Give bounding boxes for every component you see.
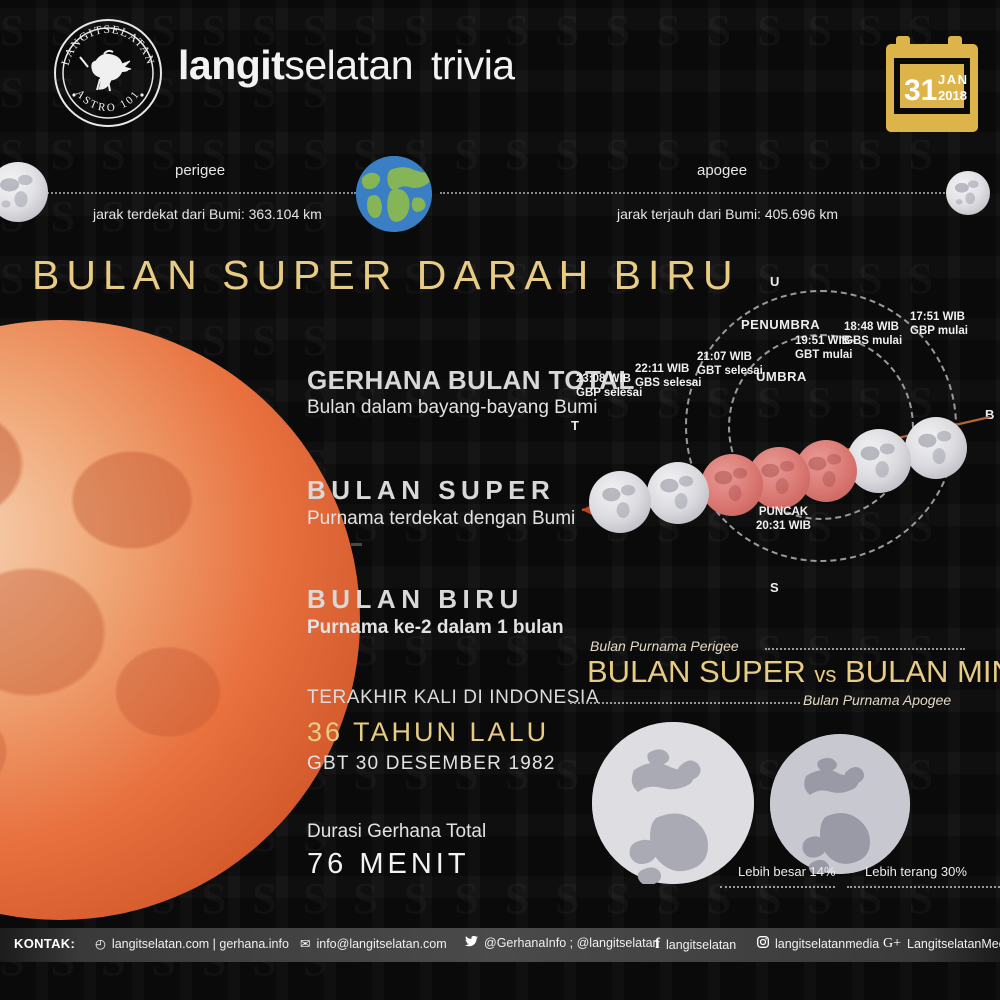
footer-item-twitter[interactable]: @GerhanaInfo ; @langitselatan — [465, 936, 659, 950]
comparison-title-a: BULAN SUPER — [587, 654, 806, 689]
perigee-dotted-line — [36, 192, 356, 194]
comparison-bottom-caption: Bulan Purnama Apogee — [803, 692, 951, 708]
caption-right-dots — [847, 886, 1000, 888]
phase-label-1751: 17:51 WIB GBP mulai — [910, 310, 968, 338]
moon-phase-1751 — [905, 417, 967, 479]
phase-label-2211: 22:11 WIB GBS selesai — [635, 362, 701, 390]
peak-text: PUNCAK — [759, 506, 808, 518]
perigee-label: perigee — [175, 162, 225, 179]
facebook-icon: f — [655, 936, 660, 953]
phase-label-1951: 19:51 WIB GBT mulai — [795, 334, 853, 362]
footer-facebook-text: langitselatan — [666, 938, 736, 952]
perigee-apogee-band: perigee jarak terdekat dari Bumi: 363.10… — [0, 148, 1000, 240]
phase-time-1951: 19:51 WIB — [795, 335, 850, 347]
moon-phase-2211 — [647, 462, 709, 524]
duration-value: 76 MENIT — [307, 848, 470, 881]
footer-twitter-text: @GerhanaInfo ; @langitselatan — [484, 936, 659, 950]
footer-item-email[interactable]: ✉ info@langitselatan.com — [300, 936, 447, 951]
peak-label: PUNCAK 20:31 WIB — [756, 505, 811, 533]
apogee-distance: jarak terjauh dari Bumi: 405.696 km — [617, 206, 838, 222]
footer-item-instagram[interactable]: langitselatanmedia — [757, 936, 879, 951]
comparison-title: BULAN SUPER vs BULAN MINI — [587, 654, 1000, 690]
phase-event-1848: GBS mulai — [844, 335, 902, 347]
phase-label-2308: 23:08 WIB GBP selesai — [576, 372, 642, 400]
mini-moon-graphic — [770, 734, 910, 874]
comparison-title-b: BULAN MINI — [845, 654, 1000, 689]
divider-dash — [351, 543, 362, 546]
moon-phase-2107 — [701, 454, 763, 516]
rss-icon: ◴ — [95, 936, 106, 951]
phase-event-1751: GBP mulai — [910, 325, 968, 337]
last-eclipse-detail: GBT 30 DESEMBER 1982 — [307, 753, 556, 775]
contact-footer: KONTAK: ◴ langitselatan.com | gerhana.in… — [0, 928, 1000, 962]
calendar-icon: 31 JAN 2018 — [886, 36, 978, 132]
super-vs-mini-section: Bulan Purnama Perigee BULAN SUPER vs BUL… — [560, 630, 1000, 900]
last-eclipse-value: 36 TAHUN LALU — [307, 717, 549, 748]
instagram-icon — [757, 936, 769, 951]
calendar-year: 2018 — [938, 88, 967, 103]
footer-item-googleplus[interactable]: G+ LangitselatanMedia — [883, 936, 1000, 952]
calendar-month: JAN — [938, 72, 969, 87]
perigee-moon-icon — [0, 162, 48, 222]
phase-time-1848: 18:48 WIB — [844, 321, 899, 333]
brand-title: langitselatantrivia — [178, 42, 515, 89]
phase-event-2308: GBP selesai — [576, 387, 642, 399]
phase-time-1751: 17:51 WIB — [910, 311, 965, 323]
apogee-moon-icon — [946, 171, 990, 215]
brand-tail: trivia — [431, 42, 515, 88]
brand-bold: langit — [178, 42, 284, 88]
apogee-label: apogee — [697, 162, 747, 179]
moon-phase-2308 — [589, 471, 651, 533]
fact-sub-bulan-biru: Purnama ke-2 dalam 1 bulan — [307, 617, 564, 639]
comparison-bottom-dots — [570, 702, 800, 704]
kontak-label: KONTAK: — [14, 936, 75, 951]
phase-event-2211: GBS selesai — [635, 377, 701, 389]
phase-time-2107: 21:07 WIB — [697, 351, 752, 363]
fact-sub-bulan-super: Purnama terdekat dengan Bumi — [307, 508, 575, 530]
phase-event-2107: GBT selesai — [697, 365, 763, 377]
eclipse-path-diagram: U S T B PENUMBRA UMBRA 17:51 WIB GBP mul… — [560, 272, 1000, 612]
footer-item-facebook[interactable]: f langitselatan — [655, 936, 736, 953]
twitter-icon — [465, 936, 478, 950]
phase-label-2107: 21:07 WIB GBT selesai — [697, 350, 763, 378]
moon-phase-1848 — [847, 429, 911, 493]
caption-left-dots — [720, 886, 835, 888]
comparison-top-caption: Bulan Purnama Perigee — [590, 638, 739, 654]
envelope-icon: ✉ — [300, 936, 310, 951]
caption-lebih-terang: Lebih terang 30% — [865, 864, 967, 879]
langitselatan-logo-icon: LANGITSELATAN ASTRO 101 — [52, 17, 164, 129]
infographic-root: SSSSSSSSSSSSSSSSSSSSSSSSSS SSSSSSSSSSSSS… — [0, 0, 1000, 1000]
caption-lebih-besar: Lebih besar 14% — [738, 864, 836, 879]
earth-icon — [356, 156, 432, 232]
duration-label: Durasi Gerhana Total — [307, 821, 486, 843]
super-moon-graphic — [592, 722, 754, 884]
comparison-title-vs: vs — [814, 662, 836, 687]
comparison-top-dots — [765, 648, 965, 650]
phase-label-1848: 18:48 WIB GBS mulai — [844, 320, 902, 348]
header: LANGITSELATAN ASTRO 101 langitselatantri… — [0, 0, 1000, 145]
phase-time-2308: 23:08 WIB — [576, 373, 631, 385]
peak-time: 20:31 WIB — [756, 520, 811, 532]
perigee-distance: jarak terdekat dari Bumi: 363.104 km — [93, 206, 322, 222]
footer-googleplus-text: LangitselatanMedia — [907, 937, 1000, 951]
brand-light: selatan — [284, 42, 413, 88]
footer-instagram-text: langitselatanmedia — [775, 937, 879, 951]
last-eclipse-label: TERAKHIR KALI DI INDONESIA — [307, 687, 599, 709]
phase-time-2211: 22:11 WIB — [635, 363, 689, 375]
fact-heading-bulan-super: BULAN SUPER — [307, 475, 555, 506]
googleplus-icon: G+ — [883, 936, 901, 952]
blood-moon-image — [0, 320, 360, 920]
footer-website-text: langitselatan.com | gerhana.info — [112, 937, 289, 951]
fact-heading-bulan-biru: BULAN BIRU — [307, 584, 524, 615]
footer-item-website[interactable]: ◴ langitselatan.com | gerhana.info — [95, 936, 289, 951]
footer-email-text: info@langitselatan.com — [316, 937, 446, 951]
phase-event-1951: GBT mulai — [795, 349, 853, 361]
apogee-dotted-line — [440, 192, 960, 194]
fact-sub-gerhana-bulan-total: Bulan dalam bayang-bayang Bumi — [307, 397, 597, 419]
calendar-day: 31 — [904, 74, 937, 107]
